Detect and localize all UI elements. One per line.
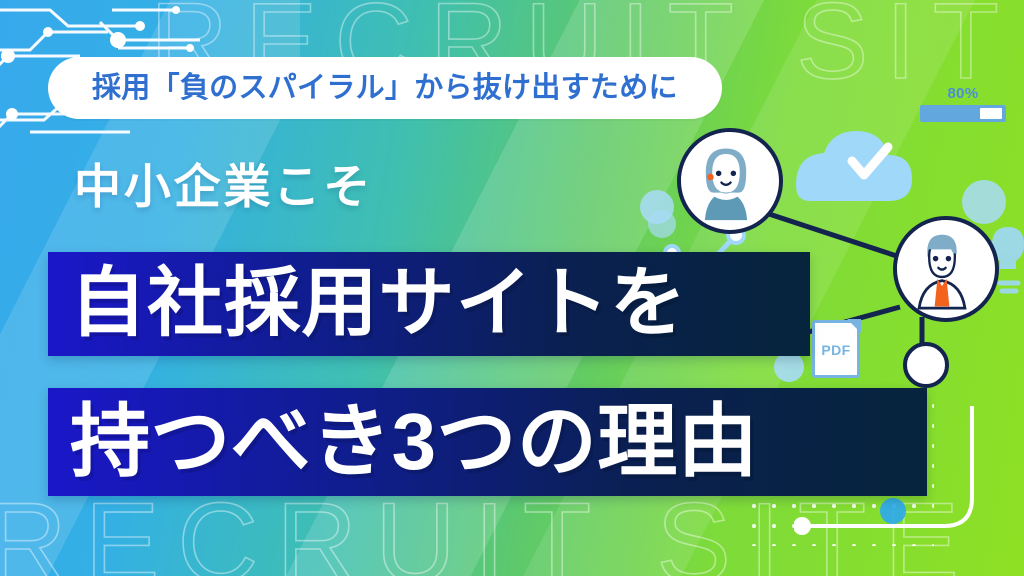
decor-circle [774, 352, 804, 382]
top-banner-pill: 採用「負のスパイラル」から抜け出すために [48, 57, 722, 119]
progress-widget: 80% [920, 86, 1006, 122]
avatar-man-icon [893, 216, 999, 322]
cloud-check-icon [796, 131, 912, 201]
headline-band-2: 持つべき3つの理由 [48, 388, 927, 496]
decor-circle [962, 180, 1006, 224]
network-node-icon [903, 342, 949, 388]
pdf-document-icon: PDF [812, 320, 860, 378]
progress-label: 80% [920, 86, 1006, 101]
headline-band-1: 自社採用サイトを [48, 252, 810, 356]
poster-canvas: RECRUIT SITE RECRUIT SITE [0, 0, 1024, 576]
progress-track [920, 105, 1006, 122]
pdf-corner-fold [847, 319, 861, 333]
progress-knob [980, 108, 1002, 119]
decor-circle [640, 190, 674, 224]
top-banner-text: 採用「負のスパイラル」から抜け出すために [92, 74, 678, 103]
decor-circle [880, 498, 906, 524]
avatar-woman-icon [677, 128, 783, 234]
decor-circle [648, 210, 676, 238]
headline-subline: 中小企業こそ [74, 163, 373, 210]
headline-band-1-text: 自社採用サイトを [70, 266, 687, 342]
pdf-label: PDF [812, 342, 860, 358]
headline-band-2-text: 持つべき3つの理由 [70, 402, 758, 482]
